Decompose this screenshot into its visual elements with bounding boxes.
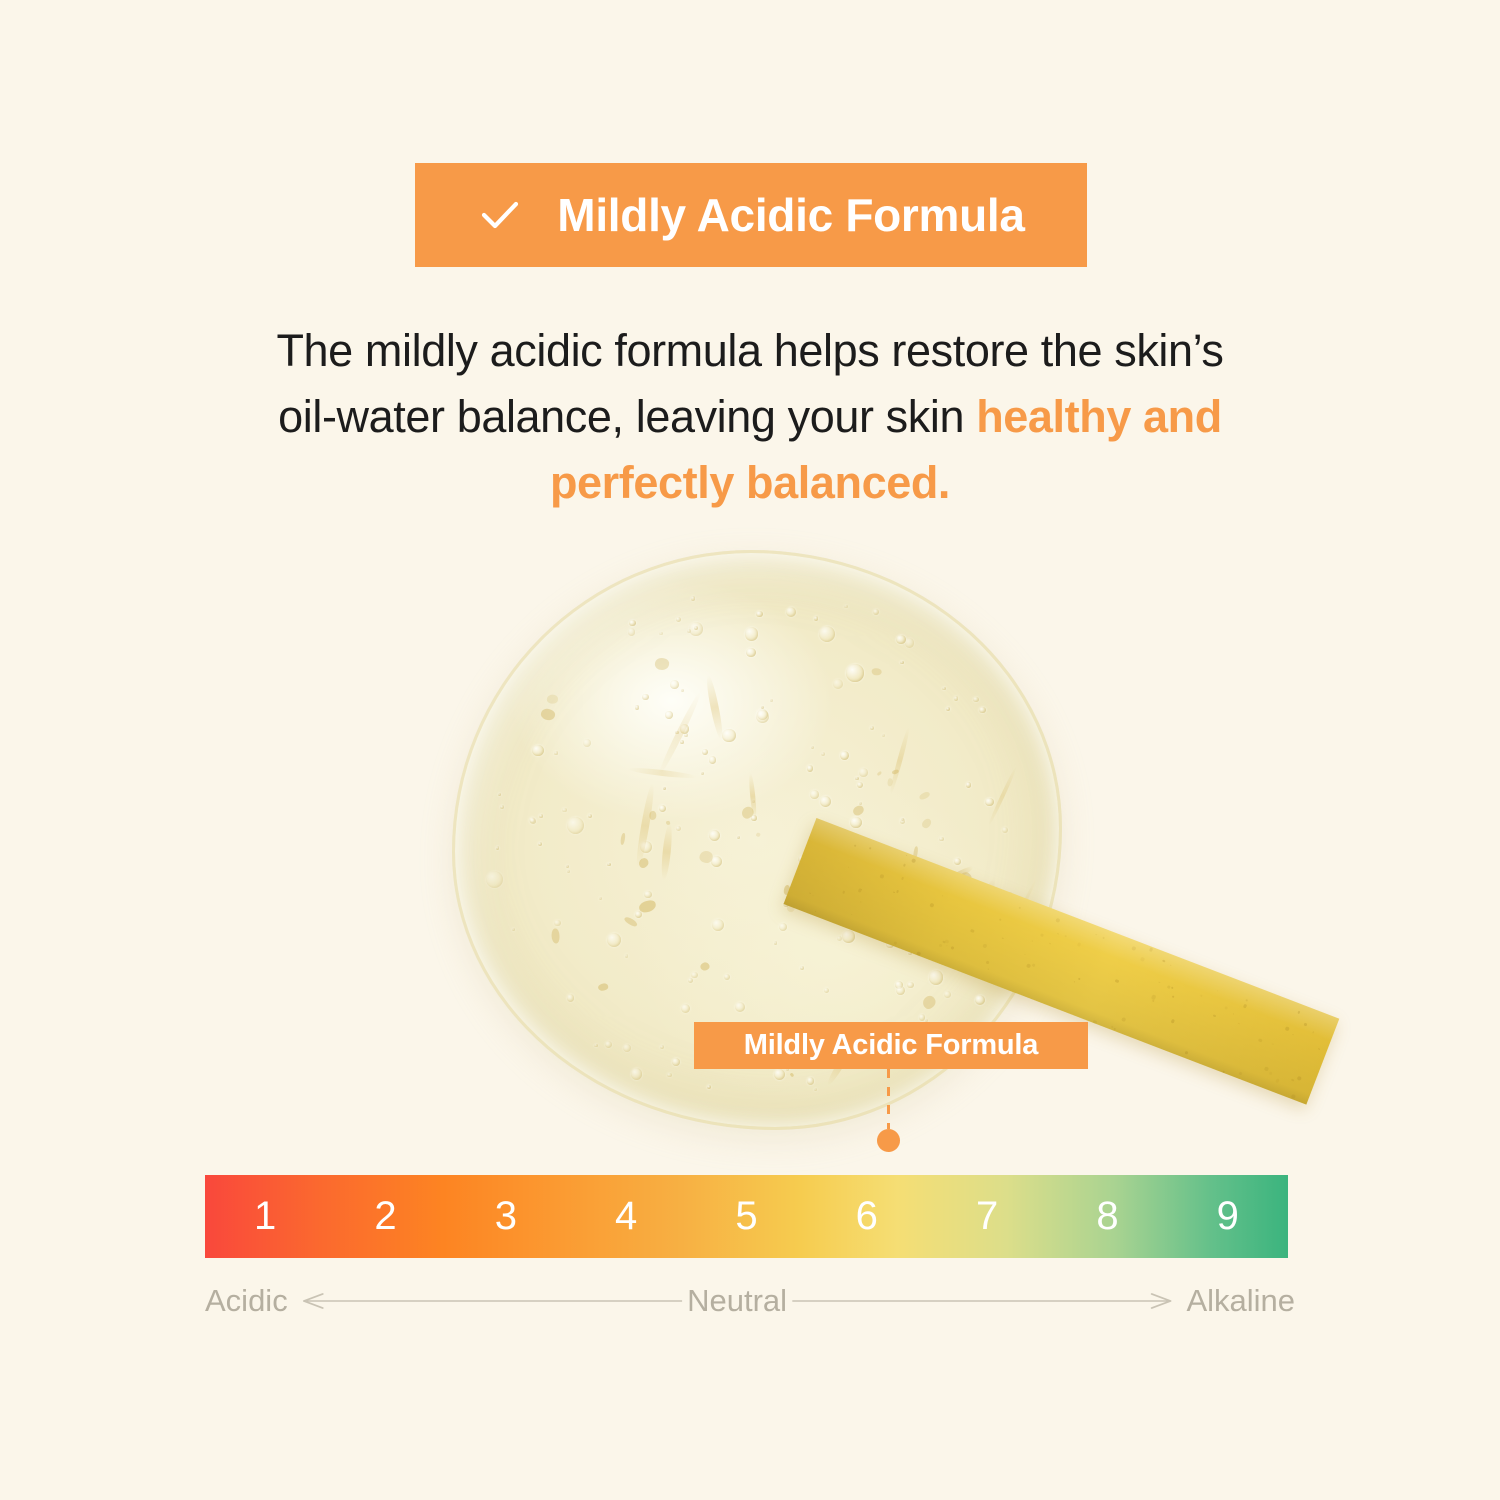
gel-bubble [975,995,986,1006]
gel-bubble [896,635,905,644]
ph-value-3: 3 [446,1175,566,1258]
strip-speck [945,939,950,944]
gel-bubble [954,858,961,865]
gel-bubble [691,972,697,978]
strip-speck [1102,936,1105,939]
gel-bubble [846,664,863,681]
product-visual: Mildly Acidic Formula [0,520,1500,1160]
gel-bubble [644,891,652,899]
gel-streak [987,766,1018,827]
strip-speck [946,945,948,947]
strip-speck [1313,1032,1315,1034]
gel-bubble [954,696,959,701]
gel-bubble [539,814,543,818]
gel-bubble [496,846,499,849]
gel-bubble [554,751,557,754]
strip-speck [1284,1027,1289,1032]
gel-particle [638,899,657,914]
legend-label-acidic: Acidic [205,1283,288,1319]
gel-bubble [628,628,635,635]
gel-bubble [870,726,874,730]
gel-bubble [855,777,858,780]
gel-bubble [896,986,905,995]
gel-bubble [850,817,861,828]
ph-value-2: 2 [325,1175,445,1258]
gel-bubble [709,756,717,764]
gel-bubble [857,782,863,788]
strip-speck [1275,1078,1279,1082]
strip-speck [906,855,907,856]
gel-bubble [672,1058,680,1066]
strip-speck [894,941,898,945]
gel-bubble [676,617,681,622]
strip-speck [1113,1028,1115,1030]
strip-speck [1002,937,1004,939]
gel-bubble [882,734,885,737]
gel-bubble [837,936,842,941]
gel-bubble [691,596,695,600]
ph-value-6: 6 [807,1175,927,1258]
gel-bubble [722,729,736,743]
gel-bubble [907,982,913,988]
strip-speck [1258,1038,1263,1043]
gel-bubble [745,627,758,640]
gel-bubble [663,787,667,791]
gel-bubble [659,632,662,635]
gel-bubble [985,798,993,806]
strip-speck [1297,1075,1302,1080]
arrow-left-icon [288,1289,687,1313]
check-icon [477,192,523,238]
strip-speck [1115,979,1120,984]
gel-bubble [583,739,591,747]
strip-speck [896,890,899,893]
strip-speck [1304,1023,1307,1026]
gel-bubble [1002,827,1008,833]
gel-bubble [807,1077,814,1084]
gel-bubble [567,994,575,1002]
strip-speck [861,901,862,902]
legend-label-neutral: Neutral [687,1283,787,1319]
strip-speck [1121,1017,1126,1022]
strip-speck [1073,981,1075,983]
gel-bubble [702,749,708,755]
gel-bubble [735,1002,745,1012]
strip-speck [1268,1071,1272,1075]
callout-leader-line [887,1069,890,1129]
strip-speck [869,848,871,850]
gel-streak [888,727,911,795]
gel-bubble [844,605,847,608]
gel-bubble [659,805,666,812]
strip-speck [1217,990,1218,991]
gel-bubble [642,694,648,700]
gel-bubble [709,830,720,841]
strip-speck [1024,954,1025,955]
gel-bubble [701,772,704,775]
strip-speck [1171,987,1174,990]
strip-speck [987,969,988,970]
gel-bubble [670,680,679,689]
description-text: The mildly acidic formula helps restore … [250,318,1250,516]
strip-speck [848,867,850,869]
strip-speck [1055,918,1060,923]
strip-speck [1184,1051,1188,1055]
strip-speck [911,858,916,863]
gel-bubble [786,607,796,617]
strip-speck [1213,1014,1217,1018]
strip-speck [998,918,1001,921]
ph-value-5: 5 [686,1175,806,1258]
strip-speck [843,891,846,894]
strip-speck [1057,933,1059,935]
gel-particle [921,817,933,830]
gel-bubble [833,679,843,689]
header-banner: Mildly Acidic Formula [415,163,1087,267]
gel-streak [634,783,656,868]
gel-bubble [631,1068,642,1079]
gel-bubble [819,626,835,642]
gel-bubble [810,790,819,799]
strip-speck [1238,1023,1240,1025]
gel-bubble [588,814,592,818]
gel-bubble [824,988,829,993]
strip-speck [1078,978,1080,980]
gel-particle [789,1072,794,1077]
gel-bubble [939,837,943,841]
strip-speck [812,894,814,896]
strip-speck [1243,1003,1248,1008]
banner-title: Mildly Acidic Formula [557,188,1024,242]
gel-bubble [979,707,985,713]
strip-speck [983,943,988,948]
gel-bubble [498,793,502,797]
gel-bubble [756,710,769,723]
strip-speck [1026,963,1031,968]
gel-particle [852,804,866,817]
strip-speck [985,961,989,965]
gel-bubble [814,616,818,620]
gel-bubble [724,974,730,980]
gel-bubble [774,1069,785,1080]
gel-particle [699,961,711,972]
strip-speck [1239,1071,1243,1075]
strip-speck [853,845,856,848]
gel-bubble [567,817,584,834]
gel-bubble [594,1044,597,1047]
gel-bubble [774,941,777,944]
strip-speck [1291,1094,1296,1099]
gel-bubble [635,705,639,709]
gel-streak [660,823,674,881]
gel-bubble [946,707,950,711]
gel-particle [546,694,558,704]
gel-bubble [629,620,635,626]
gel-bubble [737,836,740,839]
strip-speck [1200,994,1203,997]
gel-bubble [707,1085,711,1089]
callout-label: Mildly Acidic Formula [744,1029,1038,1062]
gel-bubble [667,1073,671,1077]
strip-speck [851,914,853,916]
gel-bubble [486,871,503,888]
gel-bubble [779,923,787,931]
strip-speck [942,895,944,897]
strip-speck [1318,1048,1320,1050]
gel-bubble [625,954,629,958]
gel-particle [877,770,883,776]
gel-bubble [966,782,972,788]
gel-bubble [688,978,693,983]
gel-bubble [681,689,684,692]
gel-particle [540,707,556,722]
gel-bubble [820,796,831,807]
gel-bubble [814,1088,817,1091]
gel-bubble [900,661,903,664]
gel-bubble [929,970,943,984]
ph-value-8: 8 [1047,1175,1167,1258]
gel-bubble [942,687,945,690]
strip-speck [1158,982,1160,984]
gel-bubble [800,966,804,970]
gel-particle [654,657,670,671]
gel-bubble [665,711,672,718]
strip-speck [1170,1019,1175,1024]
gel-bubble [811,746,814,749]
gel-bubble [919,1014,925,1020]
gel-bubble [554,920,560,926]
gel-particle [918,791,930,801]
gel-particle [552,929,560,944]
strip-speck [970,929,975,934]
gel-bubble [756,611,763,618]
strip-speck [1297,1011,1301,1015]
callout-badge: Mildly Acidic Formula [694,1022,1088,1069]
strip-speck [1149,948,1153,952]
gel-particle [872,668,882,675]
gel-bubble [680,740,684,744]
ph-scale-bar: 123456789 [205,1175,1288,1258]
gel-bubble [607,933,621,947]
gel-bubble [566,865,569,868]
gel-bubble [873,609,879,615]
strip-speck [1224,1006,1228,1010]
gel-bubble [681,1004,690,1013]
strip-speck [1246,999,1248,1001]
gel-bubble [562,808,566,812]
gel-bubble [567,870,570,873]
strip-speck [893,891,895,893]
gel-bubble [944,991,951,998]
gel-particle [598,983,609,992]
gel-bubble [842,930,855,943]
gel-bubble [599,897,602,900]
ph-value-7: 7 [927,1175,1047,1258]
strip-speck [901,877,904,880]
strip-speck [1095,934,1097,936]
strip-speck [1264,1066,1269,1071]
ph-scale-legend: Acidic Neutral Alkaline [205,1278,1295,1324]
gel-bubble [530,818,536,824]
gel-bubble [512,928,515,931]
strip-speck [1233,1013,1234,1014]
strip-speck [1064,935,1067,938]
strip-speck [903,864,906,867]
gel-streak [704,675,725,740]
gel-bubble [676,826,681,831]
gel-bubble [905,638,914,647]
strip-speck [815,911,816,912]
gel-bubble [840,751,849,760]
strip-speck [1167,985,1171,989]
gel-particle [756,833,761,838]
strip-speck [1162,959,1166,963]
strip-speck [950,946,954,950]
gel-bubble [821,752,825,756]
strip-speck [1172,996,1174,998]
strip-speck [1049,942,1051,944]
ph-value-1: 1 [205,1175,325,1258]
gel-bubble [607,863,610,866]
strip-speck [1151,995,1156,1000]
strip-speck [809,893,811,895]
gel-bubble [901,818,904,821]
gel-bubble [711,856,722,867]
strip-speck [1032,940,1033,941]
gel-particle [921,993,938,1010]
strip-speck [1141,957,1146,962]
gel-bubble [500,805,504,809]
gel-bubble [538,842,542,846]
gel-bubble [712,919,724,931]
strip-speck [1040,933,1044,937]
strip-speck [1093,1019,1097,1023]
strip-speck [1131,946,1136,951]
gel-bubble [532,745,543,756]
legend-label-alkaline: Alkaline [1186,1283,1295,1319]
strip-speck [1018,906,1021,909]
gel-bubble [660,1045,664,1049]
gel-bubble [635,911,642,918]
strip-speck [1271,1043,1273,1045]
gel-bubble [623,1044,631,1052]
arrow-right-icon [787,1289,1186,1313]
gel-bubble [973,697,979,703]
ph-value-4: 4 [566,1175,686,1258]
strip-speck [879,874,884,879]
gel-bubble [770,699,773,702]
strip-speck [1292,1033,1293,1034]
strip-speck [1032,963,1036,967]
ph-value-9: 9 [1168,1175,1288,1258]
strip-speck [1223,1071,1225,1073]
strip-speck [1077,942,1082,947]
gel-particle [620,832,626,844]
gel-bubble [807,765,813,771]
gel-bubble [605,1041,612,1048]
gel-streak [656,691,703,776]
gel-bubble [746,648,756,658]
strip-speck [929,903,934,908]
strip-speck [1170,964,1172,966]
gel-bubble [859,768,868,777]
strip-speck [939,943,943,947]
ph-marker-dot [877,1129,900,1152]
strip-speck [1291,1079,1294,1082]
